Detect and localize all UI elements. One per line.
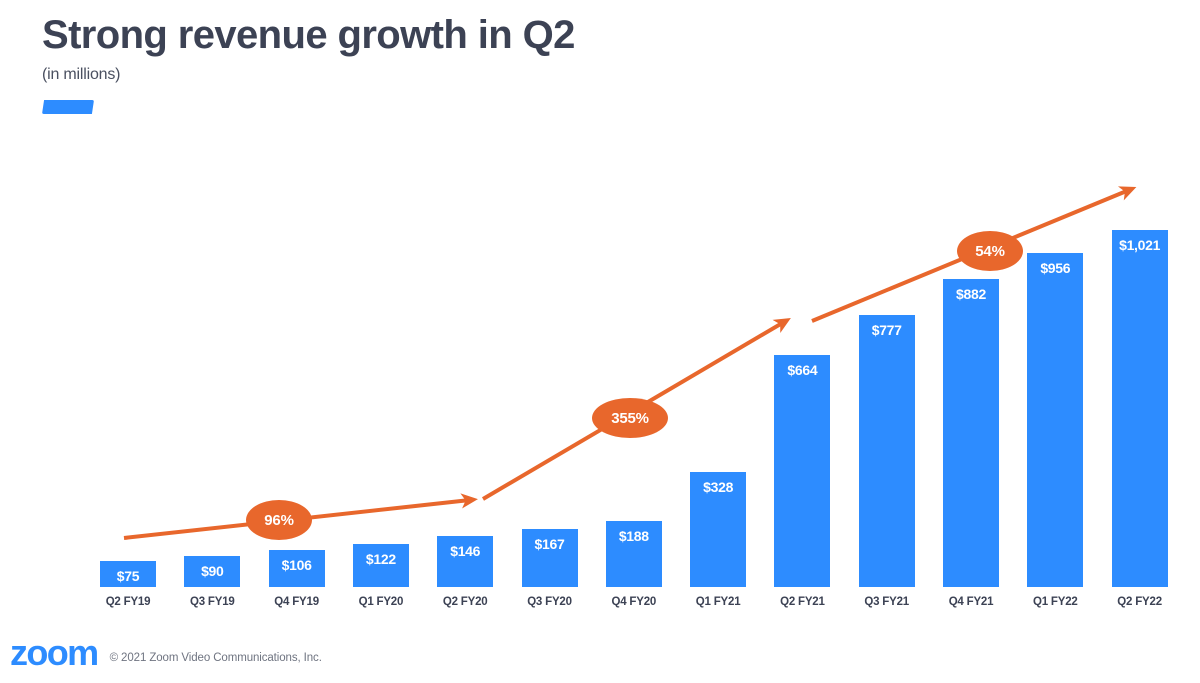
bar-category-label: Q2 FY19 [90,596,166,608]
bar-group: $777Q3 FY21 [859,0,915,620]
bar-category-label: Q1 FY20 [343,596,419,608]
bar-group: $75Q2 FY19 [100,0,156,620]
bar-value-label: $328 [690,479,746,495]
growth-badge-96: 96% [246,500,312,540]
bar-value-label: $75 [100,568,156,584]
slide-footer: zoom © 2021 Zoom Video Communications, I… [10,637,322,669]
bar-group: $146Q2 FY20 [437,0,493,620]
bar[interactable]: $122 [353,544,409,587]
bar-value-label: $664 [774,362,830,378]
bar-group: $328Q1 FY21 [690,0,746,620]
bar-value-label: $90 [184,563,240,579]
bar-value-label: $106 [269,557,325,573]
bar-value-label: $882 [943,286,999,302]
bar[interactable]: $777 [859,315,915,587]
bar-group: $122Q1 FY20 [353,0,409,620]
bar-group: $956Q1 FY22 [1027,0,1083,620]
bar[interactable]: $106 [269,550,325,587]
bar-group: $1,021Q2 FY22 [1112,0,1168,620]
bar-category-label: Q3 FY20 [512,596,588,608]
bar-category-label: Q1 FY21 [680,596,756,608]
bar[interactable]: $188 [606,521,662,587]
bar[interactable]: $956 [1027,253,1083,587]
trend-arrow-layer [0,0,1200,683]
bar-group: $167Q3 FY20 [522,0,578,620]
bar[interactable]: $90 [184,556,240,587]
bar-group: $188Q4 FY20 [606,0,662,620]
bar-category-label: Q2 FY21 [764,596,840,608]
bar-category-label: Q2 FY20 [427,596,503,608]
bar-group: $664Q2 FY21 [774,0,830,620]
bar[interactable]: $167 [522,529,578,587]
revenue-bar-chart: $75Q2 FY19$90Q3 FY19$106Q4 FY19$122Q1 FY… [0,0,1200,620]
copyright-text: © 2021 Zoom Video Communications, Inc. [110,652,322,669]
bar-category-label: Q4 FY19 [259,596,335,608]
bar[interactable]: $328 [690,472,746,587]
bar-category-label: Q3 FY21 [849,596,925,608]
bar-value-label: $167 [522,536,578,552]
bar-value-label: $122 [353,551,409,567]
growth-badge-54: 54% [957,231,1023,271]
growth-badge-355: 355% [592,398,668,438]
bar[interactable]: $146 [437,536,493,587]
bar-category-label: Q3 FY19 [174,596,250,608]
bar-category-label: Q4 FY20 [596,596,672,608]
bar[interactable]: $75 [100,561,156,587]
bar[interactable]: $664 [774,355,830,587]
bar-group: $882Q4 FY21 [943,0,999,620]
bar[interactable]: $1,021 [1112,230,1168,587]
bar-group: $90Q3 FY19 [184,0,240,620]
bar-value-label: $777 [859,322,915,338]
bar-category-label: Q2 FY22 [1102,596,1178,608]
zoom-logo: zoom [10,637,98,669]
bar[interactable]: $882 [943,279,999,587]
bar-category-label: Q4 FY21 [933,596,1009,608]
bar-value-label: $146 [437,543,493,559]
bar-value-label: $1,021 [1112,237,1168,253]
bar-category-label: Q1 FY22 [1017,596,1093,608]
bar-value-label: $956 [1027,260,1083,276]
bar-value-label: $188 [606,528,662,544]
